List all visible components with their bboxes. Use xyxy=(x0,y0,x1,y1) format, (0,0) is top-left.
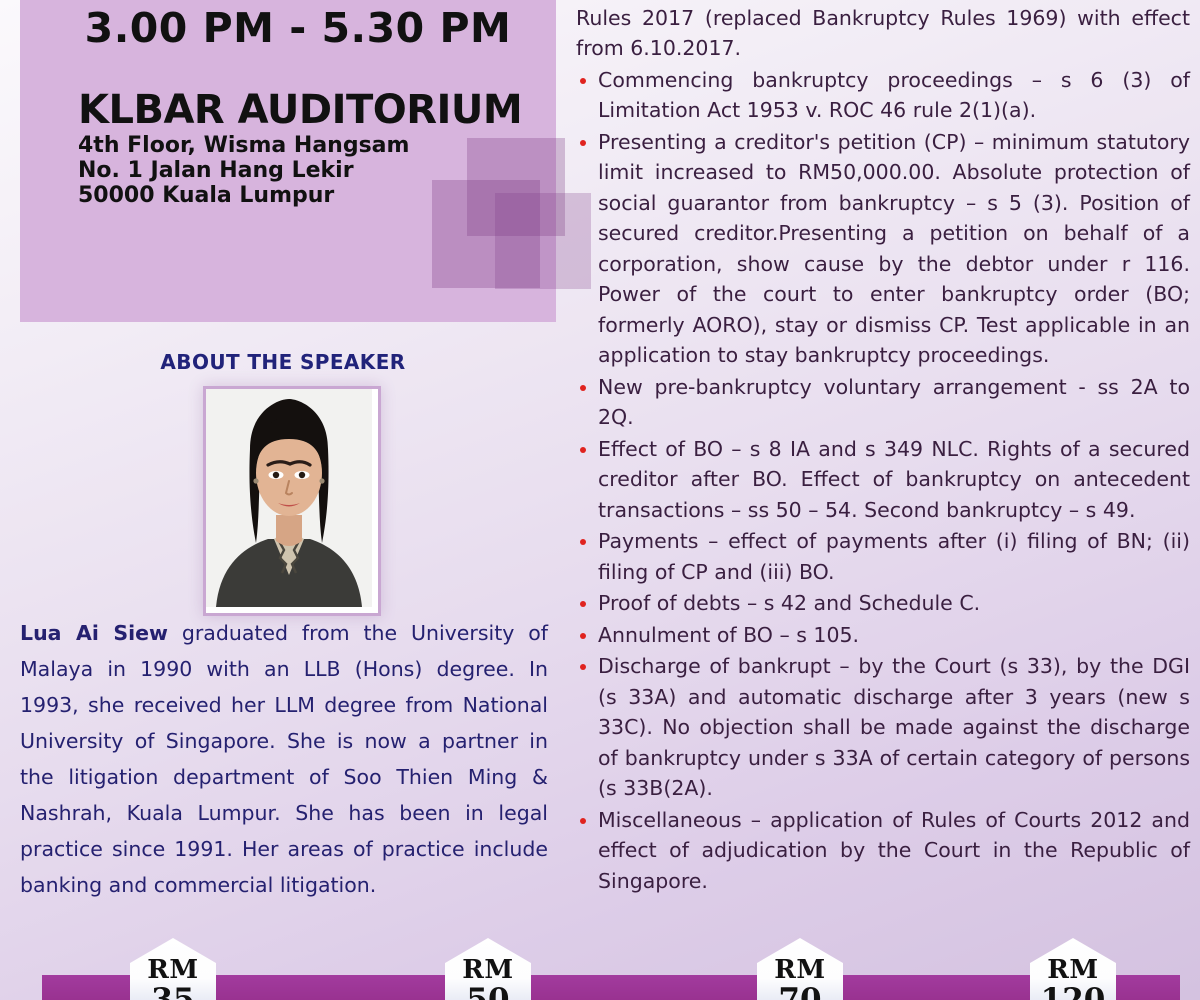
venue-address: 4th Floor, Wisma Hangsam No. 1 Jalan Han… xyxy=(78,133,409,208)
about-speaker-heading: ABOUT THE SPEAKER xyxy=(0,350,566,374)
venue-name: KLBAR AUDITORIUM xyxy=(78,87,522,133)
fee-currency: RM xyxy=(462,957,513,983)
topic-item: Insolvency Act 1967) and introduction of… xyxy=(576,0,1190,64)
fee-currency: RM xyxy=(774,957,825,983)
topic-item: Commencing bankruptcy proceedings – s 6 … xyxy=(576,65,1190,126)
speaker-bio-text: graduated from the University of Malaya … xyxy=(20,621,548,897)
fee-currency: RM xyxy=(147,957,198,983)
speaker-bio: Lua Ai Siew graduated from the Universit… xyxy=(20,615,548,903)
speaker-name: Lua Ai Siew xyxy=(20,621,168,645)
topic-item: Miscellaneous – application of Rules of … xyxy=(576,805,1190,897)
fee-amount: 35 xyxy=(151,985,194,1000)
fee-amount: 70 xyxy=(778,985,821,1000)
fee-amount: 120 xyxy=(1041,985,1106,1000)
topic-item: Proof of debts – s 42 and Schedule C. xyxy=(576,588,1190,619)
topic-item: Annulment of BO – s 105. xyxy=(576,620,1190,651)
venue-inner: 27 APRIL 2018 3.00 PM - 5.30 PM KLBAR AU… xyxy=(40,0,576,262)
topic-item: Presenting a creditor's petition (CP) – … xyxy=(576,127,1190,371)
fee-currency: RM xyxy=(1047,957,1098,983)
left-column: 27 APRIL 2018 3.00 PM - 5.30 PM KLBAR AU… xyxy=(0,0,566,1000)
topic-item: Effect of BO – s 8 IA and s 349 NLC. Rig… xyxy=(576,434,1190,526)
event-time: 3.00 PM - 5.30 PM xyxy=(40,4,556,52)
speaker-portrait-image xyxy=(206,389,372,607)
topic-item: Payments – effect of payments after (i) … xyxy=(576,526,1190,587)
fee-amount: 50 xyxy=(466,985,509,1000)
speaker-photo xyxy=(203,386,381,616)
topics-list: Insolvency Act 1967) and introduction of… xyxy=(576,0,1190,897)
venue-panel: 27 APRIL 2018 3.00 PM - 5.30 PM KLBAR AU… xyxy=(20,0,556,322)
right-column: Insolvency Act 1967) and introduction of… xyxy=(566,0,1200,1000)
event-poster: 27 APRIL 2018 3.00 PM - 5.30 PM KLBAR AU… xyxy=(0,0,1200,1000)
topic-item: Discharge of bankrupt – by the Court (s … xyxy=(576,651,1190,804)
topic-item: New pre-bankruptcy voluntary arrangement… xyxy=(576,372,1190,433)
